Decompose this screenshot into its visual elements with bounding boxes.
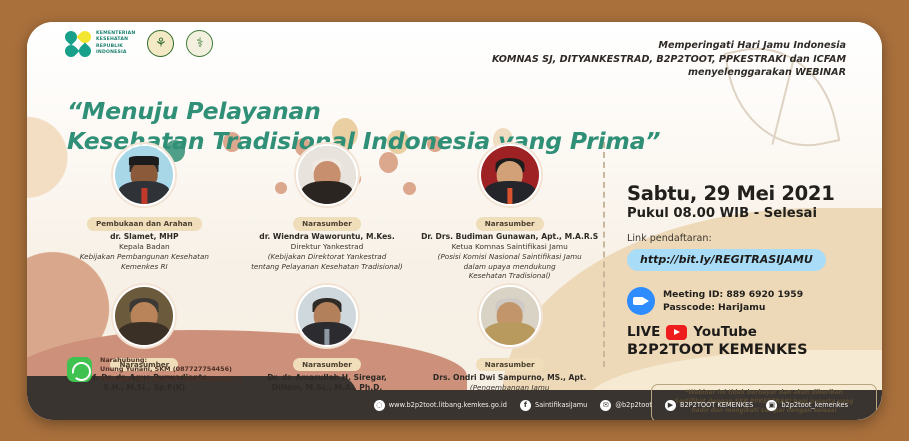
icfam-logo: ⚕	[186, 30, 213, 57]
logo-row: KEMENTERIAN KESEHATAN REPUBLIK INDONESIA…	[65, 30, 213, 57]
event-info-panel: Sabtu, 29 Mei 2021 Pukul 08.00 WIB - Sel…	[627, 182, 877, 358]
kemenkes-mark-icon	[65, 31, 91, 57]
registration-link[interactable]: http://bit.ly/REGITRASIJAMU	[627, 249, 826, 271]
title-line-1: “Menuju Pelayanan	[67, 96, 660, 126]
speaker-avatar	[479, 285, 541, 347]
speaker-name: dr. Slamet, MHP	[55, 232, 234, 242]
b2p2toot-logo: ⚘	[147, 30, 174, 57]
social-link[interactable]: ▣b2p2toot_kemenkes	[766, 400, 848, 411]
speaker-position: Ketua Komnas Saintifikasi Jamu	[420, 242, 599, 252]
youtube-icon: ▶	[665, 400, 676, 411]
contact-block: Narahubung: Unung Yunani, SKM (087727754…	[67, 356, 242, 384]
speaker-role-badge: Narasumber	[476, 217, 544, 231]
social-link[interactable]: fSaintifikasiJamu	[520, 400, 587, 411]
live-stream-row: LIVE YouTube	[627, 324, 877, 340]
speaker-avatar	[479, 144, 541, 206]
speaker-topic: Kemenkes RI	[55, 262, 234, 272]
registration-label: Link pendaftaran:	[627, 233, 877, 244]
speaker-position: Kepala Badan	[55, 242, 234, 252]
headline-line-3: menyelenggarakan WEBINAR	[492, 66, 846, 80]
meeting-id: Meeting ID: 889 6920 1959	[663, 288, 803, 301]
youtube-label: YouTube	[693, 324, 757, 340]
passcode: Passcode: HariJamu	[663, 301, 803, 314]
speaker-topic: (Kebijakan Direktorat Yankestrad	[238, 252, 417, 262]
speaker-role-badge: Narasumber	[476, 358, 544, 372]
vertical-divider	[603, 142, 605, 367]
contact-lines: Narahubung: Unung Yunani, SKM (087727754…	[100, 356, 242, 384]
kemenkes-logo: KEMENTERIAN KESEHATAN REPUBLIK INDONESIA	[65, 31, 135, 57]
zoom-camera-icon	[627, 287, 655, 315]
youtube-channel-name: B2P2TOOT KEMENKES	[627, 342, 877, 358]
social-link[interactable]: ◌www.b2p2toot.litbang.kemkes.go.id	[374, 400, 507, 411]
social-handle: B2P2TOOT KEMENKES	[680, 401, 753, 409]
speaker-avatar	[296, 285, 358, 347]
whatsapp-icon[interactable]	[67, 357, 92, 382]
speaker-role-badge: Narasumber	[293, 358, 361, 372]
event-headline: Memperingati Hari Jamu Indonesia KOMNAS …	[492, 39, 846, 80]
zoom-meeting-row: Meeting ID: 889 6920 1959 Passcode: Hari…	[627, 287, 877, 315]
social-link[interactable]: ▶B2P2TOOT KEMENKES	[665, 400, 753, 411]
speaker-name: dr. Wiendra Waworuntu, M.Kes.	[238, 232, 417, 242]
event-date: Sabtu, 29 Mei 2021	[627, 182, 877, 205]
speaker-topic: (Posisi Komisi Nasional Saintifikasi Jam…	[420, 252, 599, 262]
speaker-name: Dr. Drs. Budiman Gunawan, Apt., M.A.R.S	[420, 232, 599, 242]
webinar-poster: KEMENTERIAN KESEHATAN REPUBLIK INDONESIA…	[27, 22, 882, 420]
speaker-avatar	[296, 144, 358, 206]
speaker-role-badge: Narasumber	[293, 217, 361, 231]
speaker-avatar	[113, 144, 175, 206]
zoom-credentials: Meeting ID: 889 6920 1959 Passcode: Hari…	[663, 288, 803, 315]
speaker-avatar	[113, 285, 175, 347]
headline-line-1: Memperingati Hari Jamu Indonesia	[492, 39, 846, 53]
live-label: LIVE	[627, 324, 660, 340]
globe-icon: ◌	[374, 400, 385, 411]
contact-person-1: Unung Yunani, SKM (087727754456)	[100, 365, 242, 374]
social-handle: SaintifikasiJamu	[535, 401, 587, 409]
speaker-position: Direktur Yankestrad	[238, 242, 417, 252]
speaker-card: Narasumberdr. Wiendra Waworuntu, M.Kes.D…	[236, 144, 419, 281]
twitter-icon: ✉	[600, 400, 611, 411]
speaker-topic: dalam upaya mendukung	[420, 262, 599, 272]
speaker-topic: Kesehatan Tradisional)	[420, 271, 599, 281]
speaker-card: NarasumberDr. Drs. Budiman Gunawan, Apt.…	[418, 144, 601, 281]
contact-person-2: Friskania Devi Rosanti (085600866207)	[100, 375, 242, 384]
speaker-name: Drs. Ondri Dwi Sampurno, MS., Apt.	[420, 373, 599, 383]
speaker-role-badge: Pembukaan dan Arahan	[87, 217, 202, 231]
speaker-name: Dr. dr. Amarullah H. Siregar,	[238, 373, 417, 383]
youtube-icon	[666, 325, 687, 340]
social-handle: b2p2toot_kemenkes	[781, 401, 848, 409]
social-handle: www.b2p2toot.litbang.kemkes.go.id	[389, 401, 507, 409]
contact-label: Narahubung:	[100, 356, 242, 365]
facebook-icon: f	[520, 400, 531, 411]
social-link[interactable]: ✉@b2p2toot	[600, 400, 652, 411]
logo-line: INDONESIA	[96, 50, 135, 56]
speaker-topic: Kebijakan Pembangunan Kesehatan	[55, 252, 234, 262]
speaker-card: Pembukaan dan Arahandr. Slamet, MHPKepal…	[53, 144, 236, 281]
social-handle: @b2p2toot	[615, 401, 652, 409]
kemenkes-logo-text: KEMENTERIAN KESEHATAN REPUBLIK INDONESIA	[96, 31, 135, 56]
headline-line-2: KOMNAS SJ, DITYANKESTRAD, B2P2TOOT, PPKE…	[492, 53, 846, 67]
social-links: ◌www.b2p2toot.litbang.kemkes.go.idfSaint…	[27, 390, 882, 420]
event-time: Pukul 08.00 WIB - Selesai	[627, 206, 877, 221]
speaker-topic: tentang Pelayanan Kesehatan Tradisional)	[238, 262, 417, 272]
instagram-icon: ▣	[766, 400, 777, 411]
